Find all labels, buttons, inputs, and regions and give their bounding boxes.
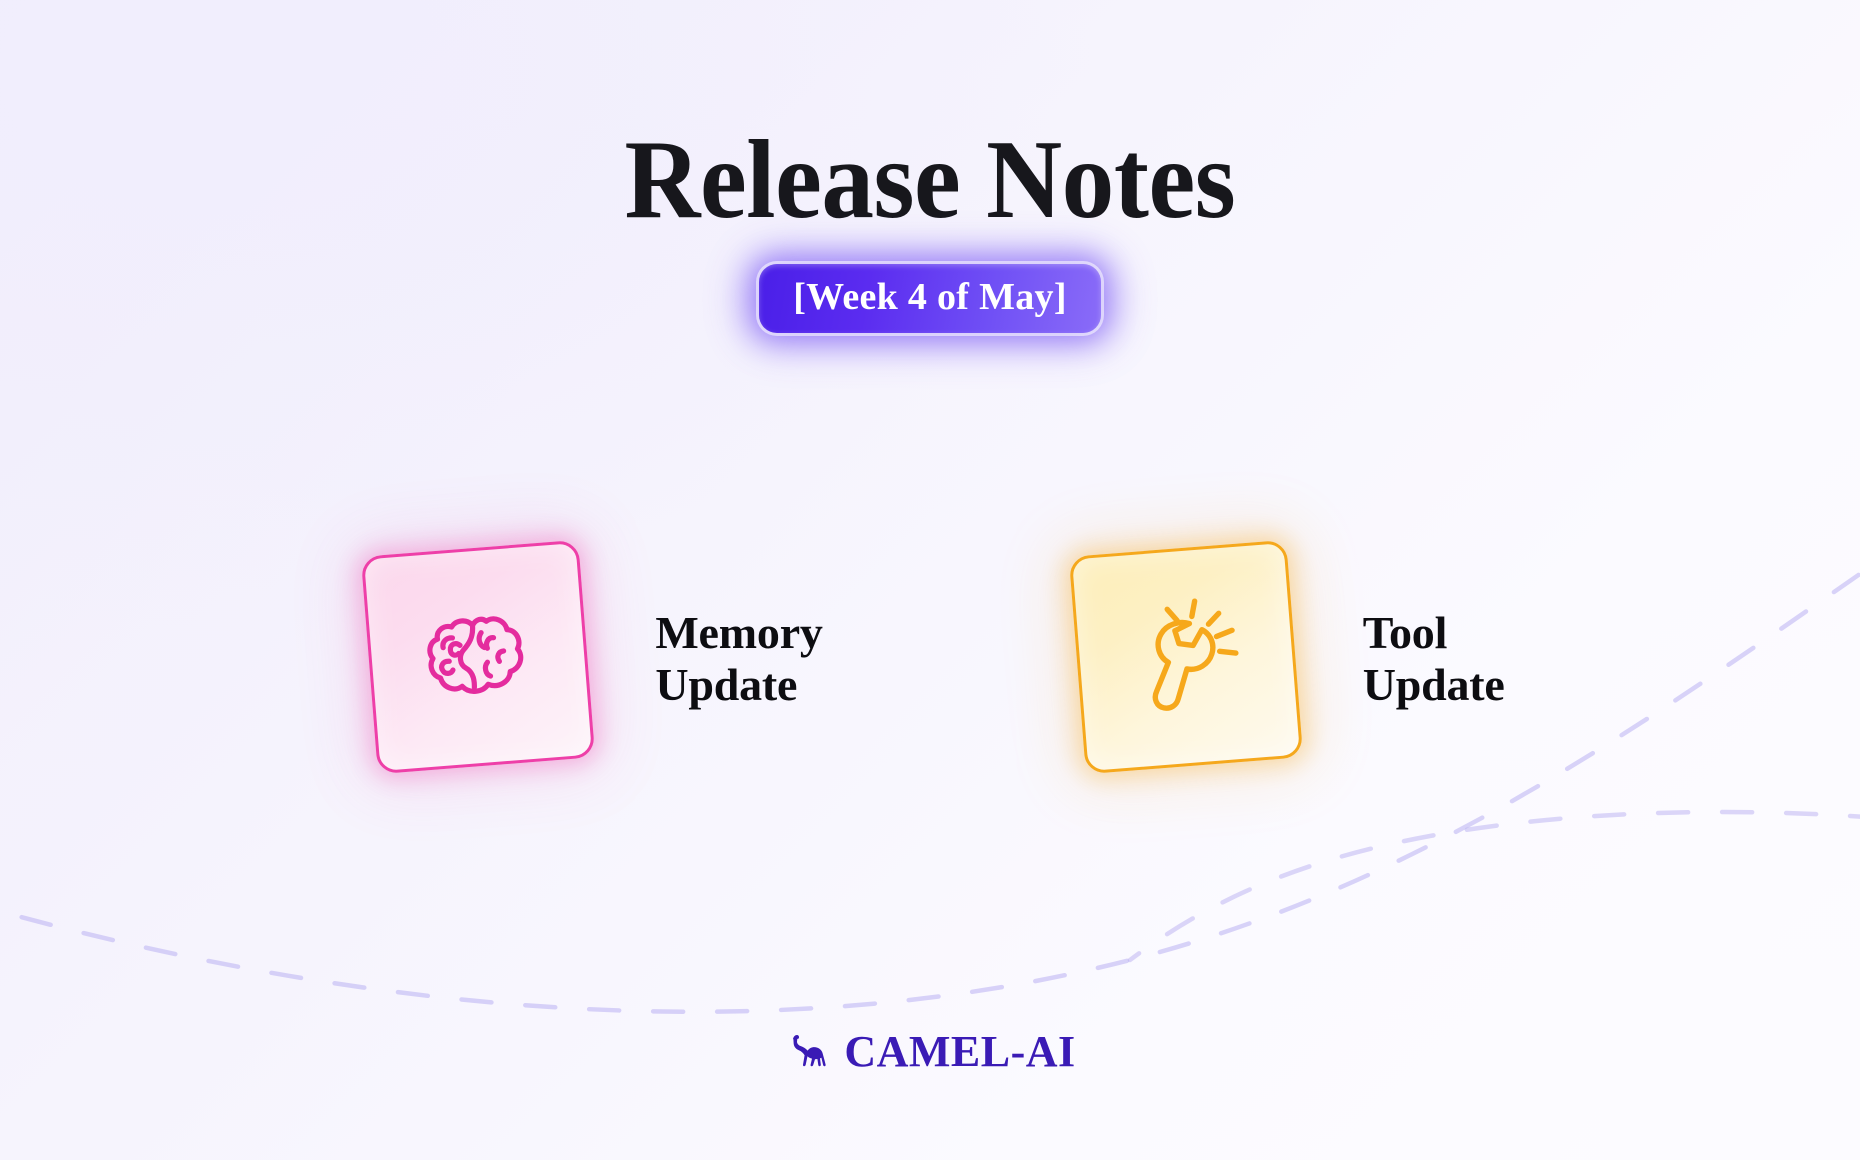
camel-icon: [784, 1030, 830, 1074]
dashed-curve-2: [1130, 812, 1860, 960]
feature-item-tool[interactable]: Tool Update: [1063, 540, 1505, 778]
feature-label-memory: Memory Update: [655, 607, 822, 710]
memory-tile-wrapper: [355, 540, 613, 778]
feature-label-tool: Tool Update: [1363, 607, 1505, 710]
release-week-badge: [Week 4 of May]: [759, 264, 1101, 333]
tool-tile[interactable]: [1069, 540, 1303, 774]
feature-list: Memory Update Tool Update: [0, 540, 1860, 778]
release-week-badge-wrapper: [Week 4 of May]: [759, 264, 1101, 333]
page-title: Release Notes: [625, 122, 1236, 240]
feature-item-memory[interactable]: Memory Update: [355, 540, 822, 778]
brain-icon: [414, 600, 542, 713]
tool-tile-wrapper: [1063, 540, 1321, 778]
brand-name: CAMEL-AI: [844, 1030, 1075, 1074]
memory-tile[interactable]: [361, 540, 595, 774]
header: Release Notes [Week 4 of May]: [0, 0, 1860, 333]
wrench-sparkle-icon: [1119, 590, 1252, 723]
footer-brand: CAMEL-AI: [0, 1030, 1860, 1074]
